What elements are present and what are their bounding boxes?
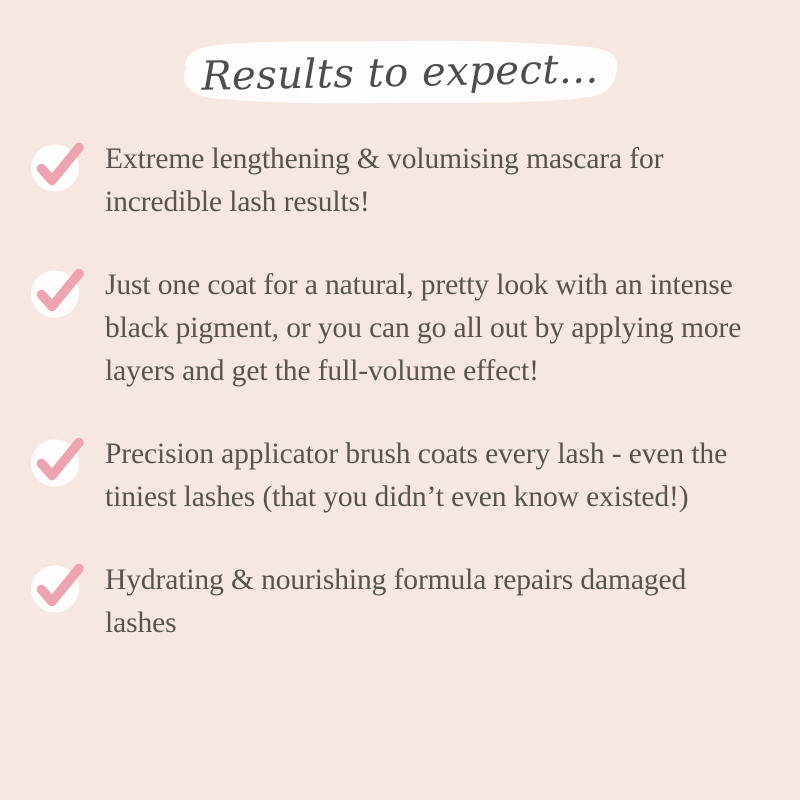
list-item-label: Just one coat for a natural, pretty look… [105, 264, 760, 393]
list-item-label: Hydrating & nourishing formula repairs d… [105, 559, 760, 645]
list-item: Extreme lengthening & volumising mascara… [0, 138, 800, 224]
check-icon [28, 561, 90, 615]
results-to-expect-card: Results to expect... Extreme lengthening… [0, 0, 800, 800]
page-title-block: Results to expect... [0, 30, 800, 116]
list-item: Hydrating & nourishing formula repairs d… [0, 559, 800, 645]
list-item: Precision applicator brush coats every l… [0, 433, 800, 519]
page-title: Results to expect... [0, 22, 800, 123]
check-icon [28, 266, 90, 320]
check-icon [28, 435, 90, 489]
list-item-label: Precision applicator brush coats every l… [105, 433, 760, 519]
list-item: Just one coat for a natural, pretty look… [0, 264, 800, 393]
benefits-list: Extreme lengthening & volumising mascara… [0, 138, 800, 645]
check-icon [28, 140, 90, 194]
list-item-label: Extreme lengthening & volumising mascara… [105, 138, 760, 224]
